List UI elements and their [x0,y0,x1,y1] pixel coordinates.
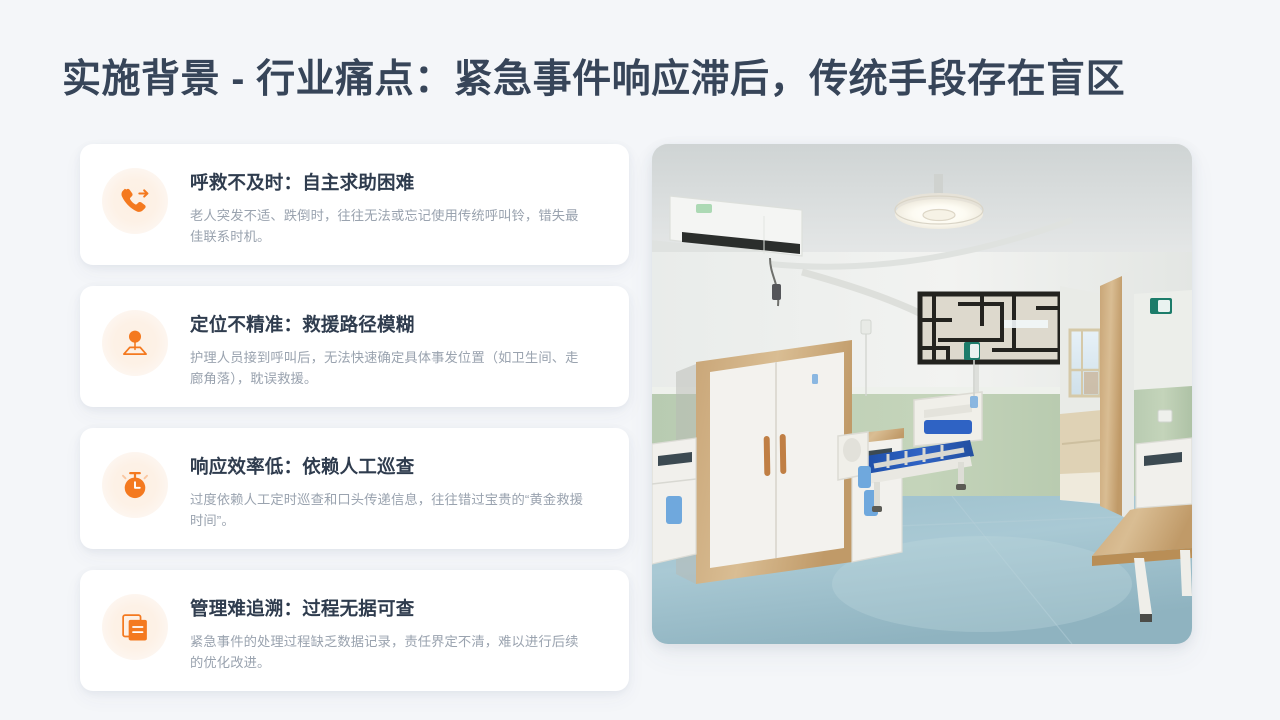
location-pin-icon [102,310,168,376]
pain-point-title: 定位不精准：救援路径模糊 [190,312,609,338]
pain-point-card[interactable]: 定位不精准：救援路径模糊 护理人员接到呼叫后，无法快速确定具体事发位置（如卫生间… [80,286,629,407]
pain-point-title: 管理难追溯：过程无据可查 [190,596,609,622]
pain-point-title: 响应效率低：依赖人工巡查 [190,454,609,480]
pain-point-title: 呼救不及时：自主求助困难 [190,170,609,196]
pain-point-card-text: 管理难追溯：过程无据可查 紧急事件的处理过程缺乏数据记录，责任界定不清，难以进行… [190,588,609,673]
pain-point-description: 紧急事件的处理过程缺乏数据记录，责任界定不清，难以进行后续的优化改进。 [190,631,590,673]
phone-outgoing-call-icon [102,168,168,234]
pain-point-card[interactable]: 呼救不及时：自主求助困难 老人突发不适、跌倒时，往往无法或忘记使用传统呼叫铃，错… [80,144,629,265]
page-title: 实施背景 - 行业痛点：紧急事件响应滞后，传统手段存在盲区 [62,54,1232,106]
pain-point-card-list: 呼救不及时：自主求助困难 老人突发不适、跌倒时，往往无法或忘记使用传统呼叫铃，错… [80,144,629,691]
pain-point-card[interactable]: 管理难追溯：过程无据可查 紧急事件的处理过程缺乏数据记录，责任界定不清，难以进行… [80,570,629,691]
pain-point-description: 护理人员接到呼叫后，无法快速确定具体事发位置（如卫生间、走廊角落），耽误救援。 [190,347,590,389]
slide-root: 实施背景 - 行业痛点：紧急事件响应滞后，传统手段存在盲区 呼救不及时：自主求助… [0,0,1280,720]
pain-point-card-text: 呼救不及时：自主求助困难 老人突发不适、跌倒时，往往无法或忘记使用传统呼叫铃，错… [190,162,609,247]
pain-point-description: 老人突发不适、跌倒时，往往无法或忘记使用传统呼叫铃，错失最佳联系时机。 [190,205,590,247]
documents-stack-icon [102,594,168,660]
pain-point-card[interactable]: 响应效率低：依赖人工巡查 过度依赖人工定时巡查和口头传递信息，往往错过宝贵的“黄… [80,428,629,549]
pain-point-description: 过度依赖人工定时巡查和口头传递信息，往往错过宝贵的“黄金救援时间”。 [190,489,590,531]
stopwatch-icon [102,452,168,518]
pain-point-card-text: 定位不精准：救援路径模糊 护理人员接到呼叫后，无法快速确定具体事发位置（如卫生间… [190,304,609,389]
pain-point-card-text: 响应效率低：依赖人工巡查 过度依赖人工定时巡查和口头传递信息，往往错过宝贵的“黄… [190,446,609,531]
nursing-home-ward-photo [652,144,1192,644]
